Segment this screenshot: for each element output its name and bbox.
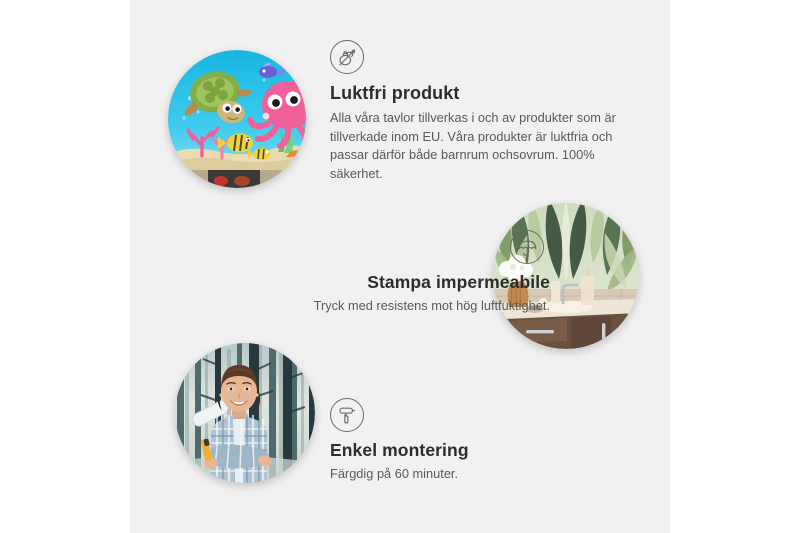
content-canvas: Luktfri produkt Alla våra tavlor tillver… [130, 0, 670, 533]
umbrella-icon [510, 230, 544, 264]
paint-roller-icon [330, 398, 364, 432]
feature-odourless: Luktfri produkt Alla våra tavlor tillver… [330, 40, 630, 184]
feature-body: Tryck med resistens mot hög luftfuktighe… [314, 297, 550, 316]
feature-body: Färgdig på 60 minuter. [330, 465, 630, 484]
woman-forest-illustration [175, 343, 315, 483]
feature-title: Luktfri produkt [330, 83, 630, 105]
feature-easy-mounting: Enkel montering Färgdig på 60 minuter. [330, 398, 630, 484]
feature-title: Enkel montering [330, 440, 630, 461]
feature-body: Alla våra tavlor tillverkas i och av pro… [330, 109, 630, 185]
feature-waterproof: Stampa impermeabile Tryck med resistens … [210, 230, 550, 316]
promo-banner: Luktfri produkt Alla våra tavlor tillver… [0, 0, 800, 533]
feature-title: Stampa impermeabile [314, 272, 550, 293]
photo-underwater-kids-mural [168, 50, 306, 188]
no-odour-spray-icon [330, 40, 364, 74]
photo-woman-with-paint-roller-forest [175, 343, 315, 483]
underwater-illustration [168, 50, 306, 188]
